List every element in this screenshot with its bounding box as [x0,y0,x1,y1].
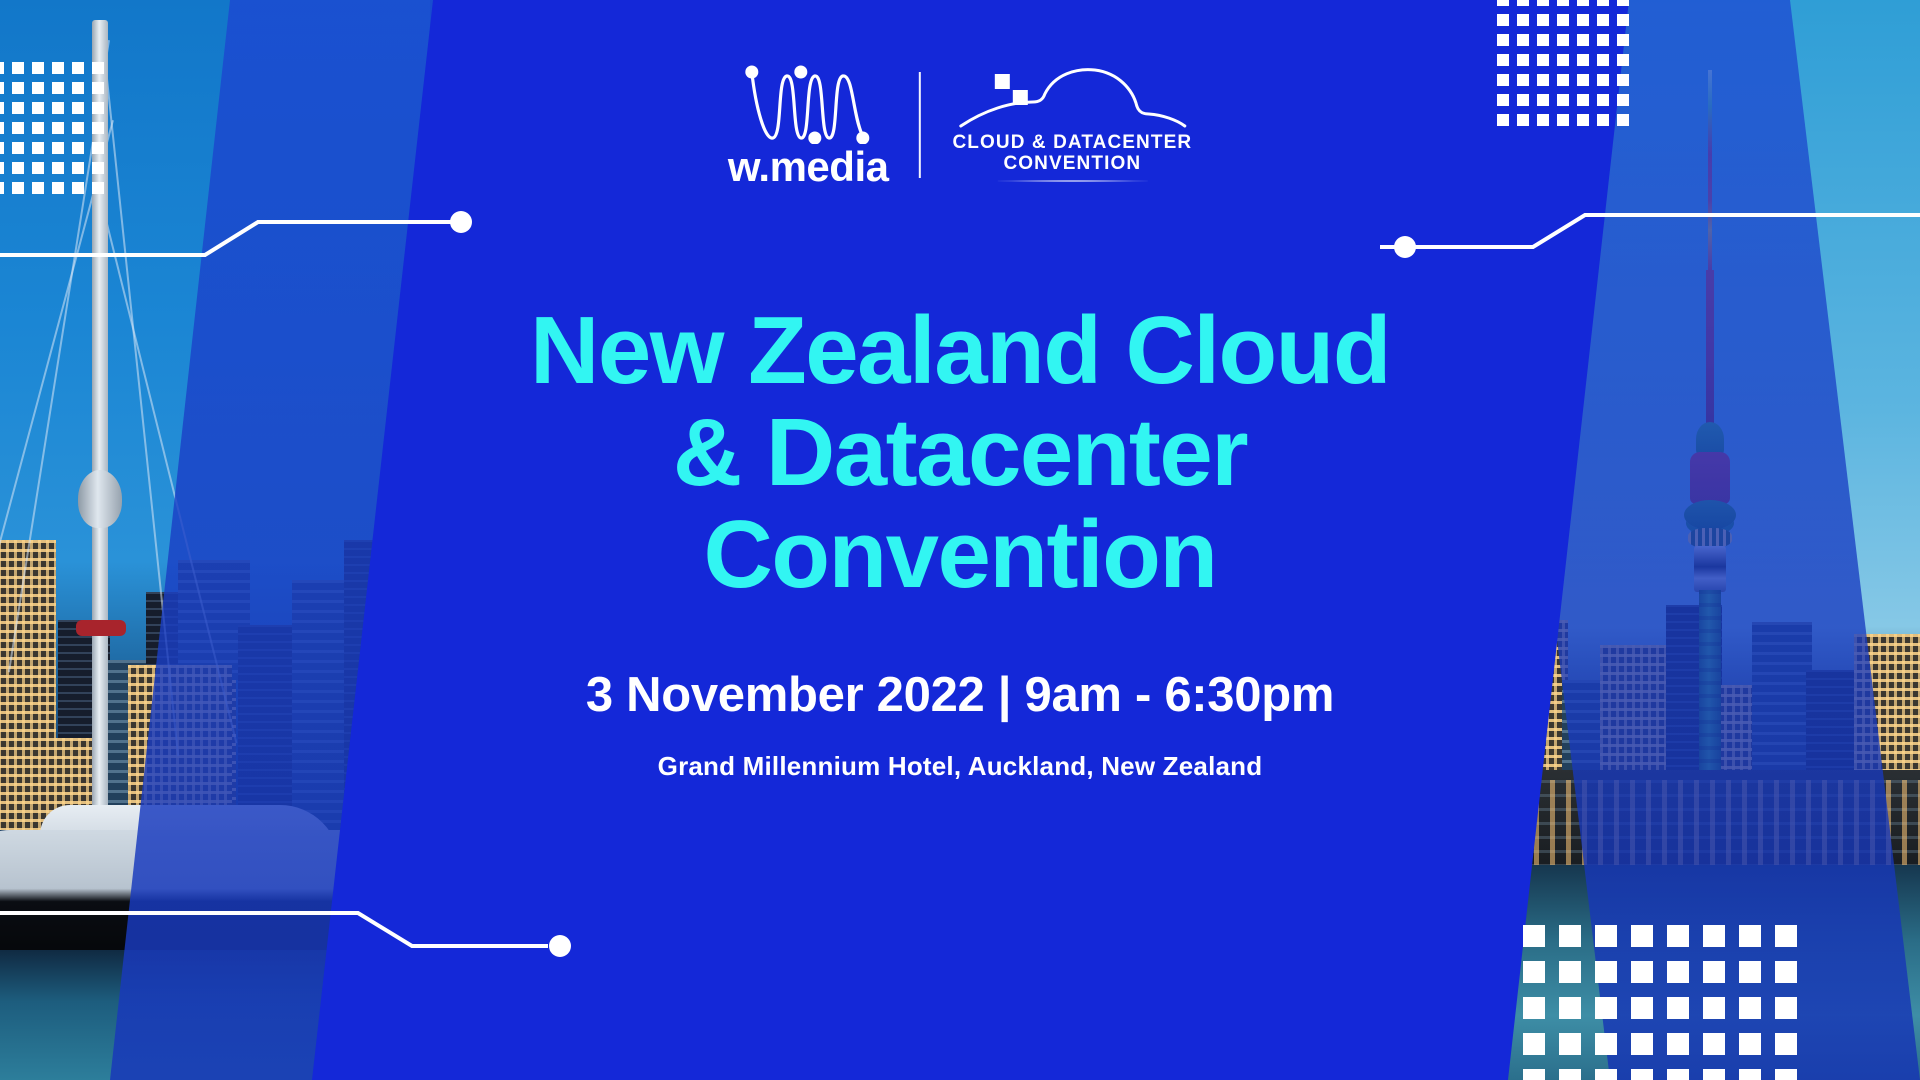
dot [72,182,84,194]
dot [1497,14,1509,26]
dot [1595,961,1617,983]
dot [1497,94,1509,106]
dot [1703,961,1725,983]
dot [1557,94,1569,106]
dot [1557,34,1569,46]
dot [1739,997,1761,1019]
dot [1497,34,1509,46]
dot [1703,1033,1725,1055]
headline-line-2: & Datacenter [330,402,1590,504]
event-datetime: 3 November 2022 | 9am - 6:30pm [0,667,1920,723]
event-banner: w.media CLOUD & DATACENTER CONVENTION Ne… [0,0,1920,1080]
dot [1595,925,1617,947]
dot [1537,34,1549,46]
dot [0,62,4,74]
dot [32,182,44,194]
connector-line-top-left [0,200,500,280]
dot [1537,94,1549,106]
dot [1577,14,1589,26]
dot [1703,1069,1725,1080]
dot [1775,925,1797,947]
dot [0,142,4,154]
dot [1557,114,1569,126]
dot [1631,1033,1653,1055]
dot [1517,114,1529,126]
dot [52,102,64,114]
dot [1577,34,1589,46]
cloud-outline-icon [958,68,1186,132]
dot [92,162,104,174]
dot [1517,74,1529,86]
dot [1597,0,1609,6]
dot [52,62,64,74]
dot [1497,114,1509,126]
dot [52,82,64,94]
dot [72,62,84,74]
dot [1667,997,1689,1019]
dot [1523,1069,1545,1080]
wmedia-logo[interactable]: w.media [728,62,919,188]
dot [1517,54,1529,66]
event-venue: Grand Millennium Hotel, Auckland, New Ze… [0,751,1920,782]
dot [52,162,64,174]
dot [1537,54,1549,66]
dot [1617,14,1629,26]
dot [1617,0,1629,6]
dot [1617,94,1629,106]
dot [1595,1069,1617,1080]
dot [1537,14,1549,26]
connector-line-bottom-left [0,890,620,970]
dot [1631,925,1653,947]
dot [1523,997,1545,1019]
dot [12,142,24,154]
dot [1577,94,1589,106]
dot [1577,74,1589,86]
dot [1557,14,1569,26]
event-details: New Zealand Cloud & Datacenter Conventio… [0,300,1920,782]
headline-line-1: New Zealand Cloud [330,300,1590,402]
pixel-square-icon [1012,90,1027,105]
dot [12,102,24,114]
dot [1667,925,1689,947]
cdc-underline [997,180,1147,182]
dot [1537,74,1549,86]
dot [32,162,44,174]
dot [12,182,24,194]
connector-line-top-right [1380,195,1920,275]
dot [1497,0,1509,6]
dot [1631,961,1653,983]
dot [1497,54,1509,66]
dot [52,142,64,154]
dot [1517,0,1529,6]
dot [12,82,24,94]
dot [1597,114,1609,126]
dot [1617,34,1629,46]
dot [1523,1033,1545,1055]
cdc-line-two: CONVENTION [1003,153,1141,174]
dot [1597,14,1609,26]
dot [92,62,104,74]
dot [12,162,24,174]
dot [1595,997,1617,1019]
dot [1517,94,1529,106]
dot [1523,961,1545,983]
dot [1523,925,1545,947]
dot [1557,74,1569,86]
dot [92,142,104,154]
cdc-logo[interactable]: CLOUD & DATACENTER CONVENTION [920,68,1192,183]
dot [1667,1069,1689,1080]
dot [72,122,84,134]
dot [1667,1033,1689,1055]
dot [12,62,24,74]
dot [1739,961,1761,983]
dot [32,82,44,94]
cdc-line-one: CLOUD & DATACENTER [952,132,1192,153]
dot [12,122,24,134]
wmedia-wordmark: w.media [728,146,889,188]
dot [1559,961,1581,983]
logo-lockup: w.media CLOUD & DATACENTER CONVENTION [728,62,1192,188]
page-title: New Zealand Cloud & Datacenter Conventio… [0,300,1920,605]
dot [1597,34,1609,46]
logo-divider [918,72,920,178]
dot [52,182,64,194]
dot [92,82,104,94]
dot [1617,114,1629,126]
dot [1559,997,1581,1019]
dot [0,162,4,174]
dot [1631,997,1653,1019]
dot [1577,114,1589,126]
dot [1703,925,1725,947]
dot [72,102,84,114]
dot [0,82,4,94]
dot [32,102,44,114]
dot [1517,34,1529,46]
dot [72,142,84,154]
dot [92,102,104,114]
dot [1595,1033,1617,1055]
dot [1577,54,1589,66]
dot [0,102,4,114]
dot [1597,54,1609,66]
dot [72,162,84,174]
dot [1667,961,1689,983]
dot [1739,925,1761,947]
dot [0,182,4,194]
dot [1597,74,1609,86]
dot [1537,0,1549,6]
dot [1775,961,1797,983]
dot [1497,74,1509,86]
dot [1597,94,1609,106]
dot [1775,1069,1797,1080]
dot [52,122,64,134]
dot [1617,54,1629,66]
dot [32,142,44,154]
wmedia-wave-icon [743,62,873,144]
dot [1739,1069,1761,1080]
dot [1775,997,1797,1019]
dot [1559,1033,1581,1055]
dot [1577,0,1589,6]
dot [1739,1033,1761,1055]
dot [1537,114,1549,126]
dot [1557,54,1569,66]
dot [92,182,104,194]
dot [1517,14,1529,26]
dot [1775,1033,1797,1055]
dot [1617,74,1629,86]
dot [72,82,84,94]
pixel-square-icon [994,74,1009,89]
dot [1559,925,1581,947]
dot [1703,997,1725,1019]
headline-line-3: Convention [330,504,1590,606]
dot [0,122,4,134]
dot [32,122,44,134]
dot [1559,1069,1581,1080]
dot [92,122,104,134]
dot [1557,0,1569,6]
dot [32,62,44,74]
dot [1631,1069,1653,1080]
